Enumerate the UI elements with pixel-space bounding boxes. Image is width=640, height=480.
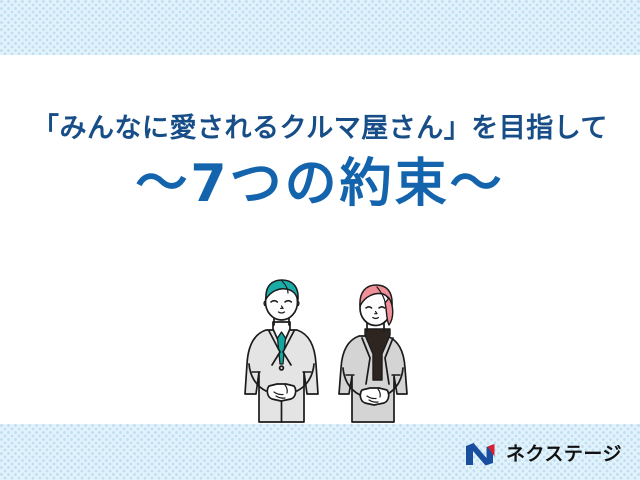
male-staff-figure <box>245 280 318 422</box>
staff-illustration <box>236 272 426 432</box>
top-dot-band <box>0 0 640 55</box>
promo-banner: 「みんなに愛されるクルマ屋さん」を目指して ～7つの約束～ <box>0 0 640 480</box>
page-title: 「みんなに愛されるクルマ屋さん」を目指して <box>0 112 640 146</box>
headline-block: 「みんなに愛されるクルマ屋さん」を目指して ～7つの約束～ <box>0 112 640 213</box>
female-staff-figure <box>339 285 407 422</box>
brand-logo: ネクステージ <box>465 442 622 466</box>
page-subtitle: ～7つの約束～ <box>0 156 640 213</box>
staff-illustration-svg <box>236 272 426 432</box>
brand-logo-text: ネクステージ <box>506 445 622 464</box>
nextage-n-mark-icon <box>465 442 499 466</box>
